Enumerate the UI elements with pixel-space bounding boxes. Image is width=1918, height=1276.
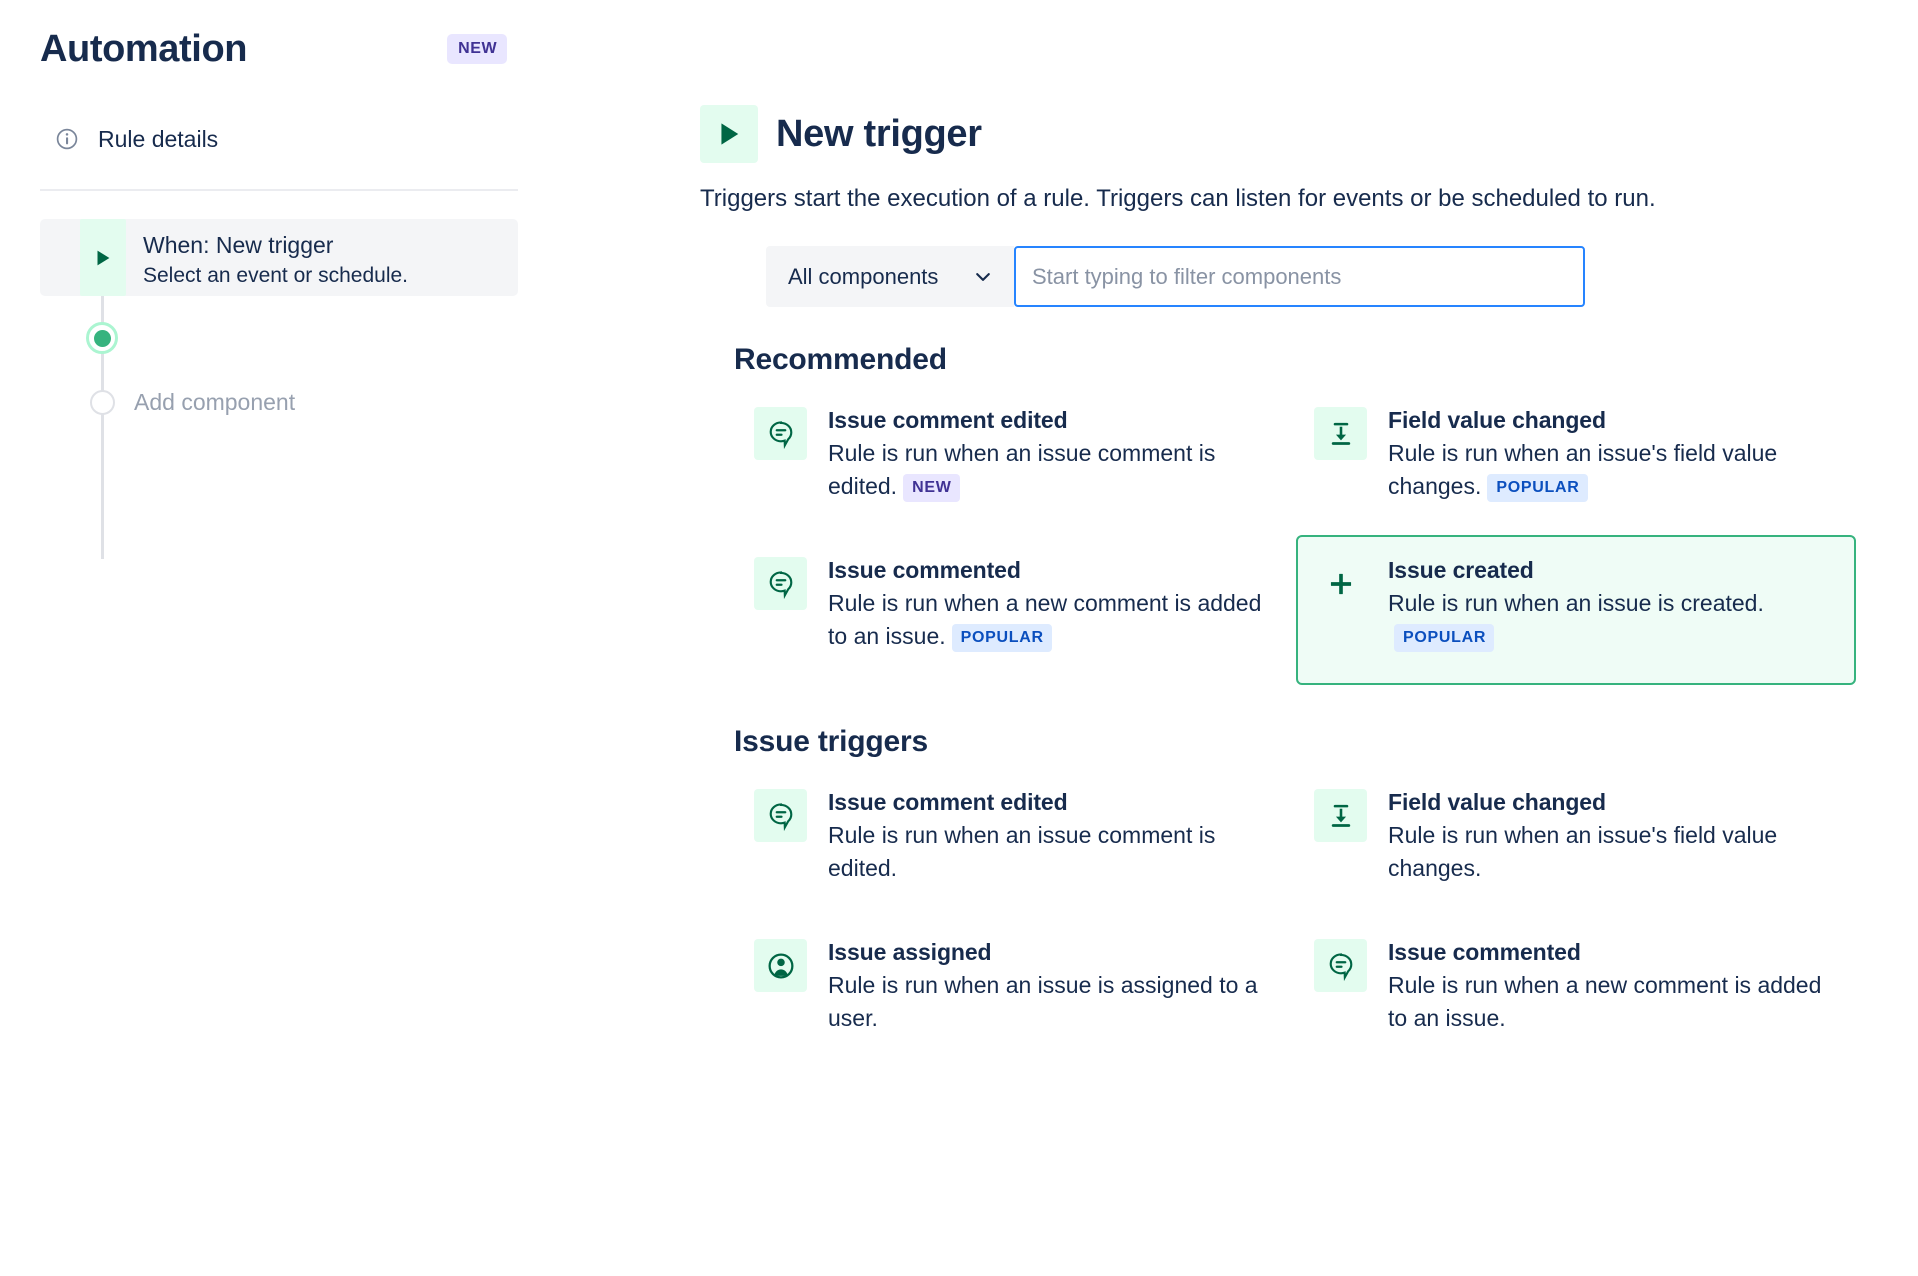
card-badge: POPULAR [1394, 624, 1494, 652]
field-value-changed-icon [1326, 419, 1356, 449]
trigger-card-issue-commented[interactable]: Issue commented Rule is run when a new c… [736, 535, 1296, 685]
play-icon [93, 248, 113, 268]
card-badge: POPULAR [952, 624, 1052, 652]
card-title: Issue assigned [828, 937, 1278, 967]
card-body: Issue comment edited Rule is run when an… [807, 787, 1278, 885]
trigger-card-issue-comment-edited[interactable]: Issue comment edited Rule is run when an… [736, 385, 1296, 535]
card-description-text: Rule is run when an issue is created. [1388, 590, 1764, 616]
card-body: Field value changed Rule is run when an … [1367, 405, 1838, 503]
comment-icon [766, 419, 796, 449]
trigger-step-subtitle: Select an event or schedule. [143, 262, 408, 289]
comment-icon [766, 801, 796, 831]
card-badge: POPULAR [1487, 474, 1587, 502]
page-title: Automation [40, 26, 247, 72]
card-body: Issue commented Rule is run when a new c… [1367, 937, 1838, 1035]
section-issue-triggers: Issue triggers Issue comment edited Rule… [700, 723, 1918, 1067]
component-filter-input[interactable] [1014, 246, 1585, 307]
card-description-text: Rule is run when an issue comment is edi… [828, 440, 1215, 499]
sidebar-divider [40, 189, 518, 191]
card-title: Issue comment edited [828, 405, 1278, 435]
card-icon-box [1314, 789, 1367, 842]
add-component-row[interactable]: Add component [40, 388, 518, 416]
card-description: Rule is run when an issue is created.POP… [1388, 587, 1838, 653]
section-recommended: Recommended Issue comment edited Rule is… [700, 341, 1918, 685]
card-description: Rule is run when an issue's field value … [1388, 819, 1838, 885]
panel-header: New trigger [700, 105, 1918, 163]
card-grid-issue-triggers: Issue comment edited Rule is run when an… [736, 767, 1861, 1067]
rule-builder-sidebar: Automation NEW Rule details [0, 0, 700, 416]
component-type-select-label: All components [788, 264, 938, 290]
sidebar-header: Automation NEW [40, 26, 636, 72]
rule-timeline: When: New trigger Select an event or sch… [40, 219, 518, 416]
automation-page: Automation NEW Rule details [0, 0, 1918, 1276]
card-body: Issue commented Rule is run when a new c… [807, 555, 1278, 653]
chevron-down-icon [973, 267, 993, 287]
card-title: Issue commented [828, 555, 1278, 585]
trigger-card-issue-comment-edited-2[interactable]: Issue comment edited Rule is run when an… [736, 767, 1296, 917]
card-title: Issue created [1388, 555, 1838, 585]
panel-description: Triggers start the execution of a rule. … [700, 184, 1918, 214]
card-description: Rule is run when an issue comment is edi… [828, 437, 1278, 503]
trigger-card-issue-commented-2[interactable]: Issue commented Rule is run when a new c… [1296, 917, 1856, 1067]
card-badge: NEW [903, 474, 959, 502]
card-body: Issue comment edited Rule is run when an… [807, 405, 1278, 503]
card-body: Issue assigned Rule is run when an issue… [807, 937, 1278, 1035]
timeline-step-when-new-trigger[interactable]: When: New trigger Select an event or sch… [40, 219, 518, 296]
comment-icon [766, 569, 796, 599]
new-trigger-panel: New trigger Triggers start the execution… [700, 0, 1918, 1067]
timeline-node-empty-icon [90, 390, 115, 415]
trigger-step-title: When: New trigger [143, 231, 408, 260]
plus-icon [1326, 569, 1356, 599]
card-body: Issue created Rule is run when an issue … [1367, 555, 1838, 653]
trigger-card-field-value-changed[interactable]: Field value changed Rule is run when an … [1296, 385, 1856, 535]
timeline-node-active[interactable] [86, 322, 118, 354]
section-title-recommended: Recommended [734, 341, 1918, 379]
comment-icon [1326, 951, 1356, 981]
add-component-label: Add component [134, 388, 295, 416]
card-description: Rule is run when a new comment is added … [828, 587, 1278, 653]
card-icon-box [754, 557, 807, 610]
card-description: Rule is run when an issue's field value … [1388, 437, 1838, 503]
trigger-step-icon-box [80, 219, 126, 296]
field-value-changed-icon [1326, 801, 1356, 831]
card-icon-box [1314, 939, 1367, 992]
panel-title: New trigger [776, 111, 982, 157]
component-type-select[interactable]: All components [766, 246, 1014, 307]
card-title: Issue commented [1388, 937, 1838, 967]
card-title: Field value changed [1388, 787, 1838, 817]
card-icon-box [754, 939, 807, 992]
trigger-step-text: When: New trigger Select an event or sch… [126, 219, 408, 289]
card-title: Issue comment edited [828, 787, 1278, 817]
card-icon-box [1314, 557, 1367, 610]
panel-header-icon-box [700, 105, 758, 163]
trigger-card-issue-created[interactable]: Issue created Rule is run when an issue … [1296, 535, 1856, 685]
issue-assigned-icon [766, 951, 796, 981]
card-icon-box [754, 407, 807, 460]
sidebar-item-rule-details-label: Rule details [98, 125, 218, 153]
card-description: Rule is run when an issue is assigned to… [828, 969, 1278, 1035]
trigger-card-issue-assigned[interactable]: Issue assigned Rule is run when an issue… [736, 917, 1296, 1067]
status-badge-new: NEW [447, 34, 507, 64]
section-title-issue-triggers: Issue triggers [734, 723, 1918, 761]
card-icon-box [1314, 407, 1367, 460]
card-description: Rule is run when a new comment is added … [1388, 969, 1838, 1035]
sidebar-item-rule-details[interactable]: Rule details [40, 122, 700, 156]
component-filter-bar: All components [766, 246, 1585, 307]
card-title: Field value changed [1388, 405, 1838, 435]
info-circle-icon [55, 127, 79, 151]
trigger-card-field-value-changed-2[interactable]: Field value changed Rule is run when an … [1296, 767, 1856, 917]
card-grid-recommended: Issue comment edited Rule is run when an… [736, 385, 1861, 685]
card-icon-box [754, 789, 807, 842]
card-description: Rule is run when an issue comment is edi… [828, 819, 1278, 885]
play-icon [715, 120, 743, 148]
card-body: Field value changed Rule is run when an … [1367, 787, 1838, 885]
